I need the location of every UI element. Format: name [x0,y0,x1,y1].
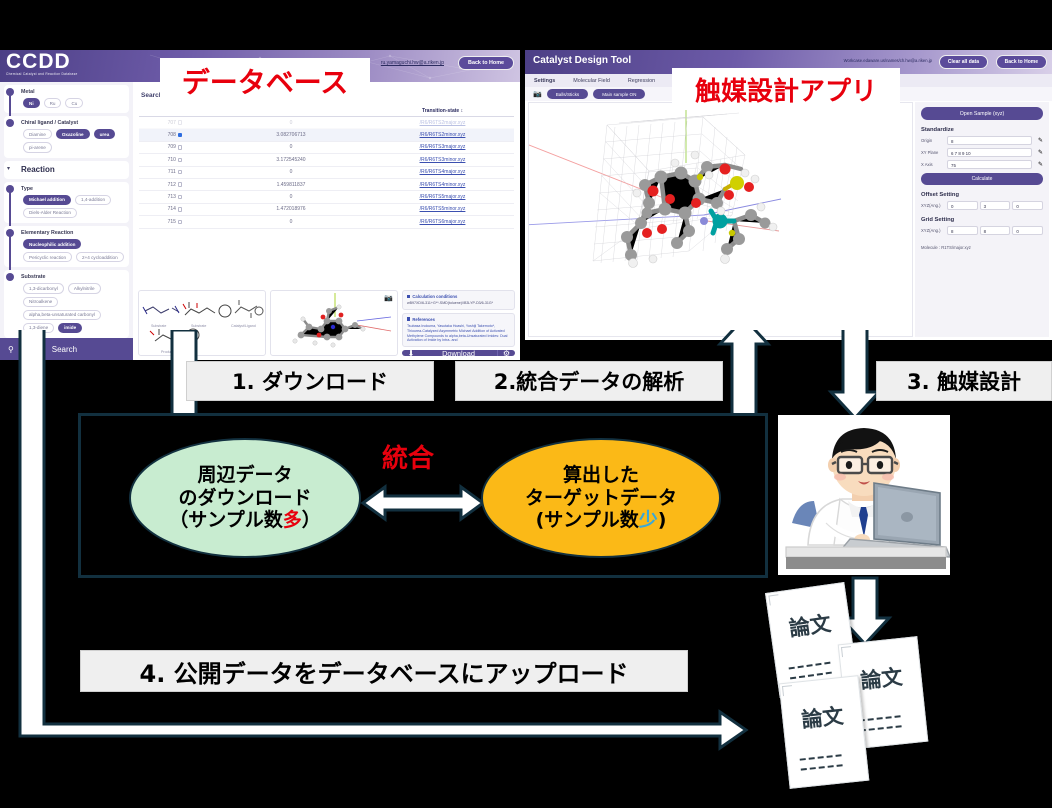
filter-group-type: Type Michael addition 1,4-addition Diels… [4,182,129,223]
page-corner-icon [768,594,779,605]
ccdd-logo-subtitle: Chemical Catalyst and Reaction Database [6,72,78,76]
row-index: 708 [139,132,211,138]
row-value: 0 [211,144,371,150]
step-label-4: 4. 公開データをデータベースにアップロード [80,650,688,692]
row-transition-state-link[interactable]: /R6/R6TS4minor.xyz [371,182,514,188]
molecule-note: Molecule : R1TS/major.xyz [921,245,1043,250]
filter-group-substrate: Substrate 1,3-dicarbonyl Alkylnitrile Ni… [4,270,129,338]
chevron-down-icon: ▾ [7,165,10,172]
xy-plane-label: XY Plane [921,150,947,155]
yellow-node-line2: ターゲットデータ [525,487,677,509]
calculation-conditions-body: wB97XD/6-311+G**-SMD(toluene)//B3LYP-D3/… [407,301,510,306]
step-label-2: 2.統合データの解析 [455,361,723,401]
filter-chip-oxazoline[interactable]: Oxazoline [56,129,90,139]
filter-chip-unsaturated-carbonyl[interactable]: alpha,beta-unsaturated carbonyl [23,310,101,320]
node-peripheral-data: 周辺データ のダウンロード （サンプル数多） [129,438,361,558]
filter-chip-24-cycloaddition[interactable]: 2+4 cycloaddition [76,252,124,262]
offset-setting-row: XYZ(Ang.) 0 3 0 [921,201,1043,210]
catalyst-back-to-home-button[interactable]: Back to Home [996,55,1047,69]
page-corner-icon [841,646,852,657]
unify-label: 統合 [343,438,473,475]
caption-database: データベース [160,58,370,103]
filter-group-title: Type [21,186,124,192]
yellow-node-emphasis: 少 [639,509,658,531]
row-transition-state-link[interactable]: /R6/R6TS3minor.xyz [371,157,514,163]
filter-section-reaction[interactable]: ▾ Reaction [4,161,129,179]
results-table: Transition-state ↕ 707 0 /R6/R6TS2major.… [139,108,514,229]
row-checkbox[interactable] [178,133,182,137]
row-index: 715 [139,219,211,225]
grid-y-input[interactable]: 8 [980,226,1011,235]
offset-y-input[interactable]: 3 [980,201,1011,210]
filter-group-chiral-ligand: Chiral ligand / Catalyst Diamine Oxazoli… [4,116,129,157]
filter-chip-urea[interactable]: urea [94,129,116,139]
ccdd-logo-text: CCDD [6,52,78,72]
row-transition-state-link[interactable]: /R6/R6TS6major.xyz [371,219,514,225]
filter-chip-pericyclic[interactable]: Pericyclic reaction [23,252,72,262]
molecule-grid-render [529,103,913,337]
row-index: 711 [139,169,211,175]
row-index: 710 [139,157,211,163]
row-transition-state-link[interactable]: /R6/R6TS5major.xyz [371,194,514,200]
filter-group-title: Chiral ligand / Catalyst [21,120,124,126]
offset-z-input[interactable]: 0 [1012,201,1043,210]
main-sample-toggle-button[interactable]: Main sample ON [593,89,645,99]
references-heading: References [407,317,510,322]
section-marker-icon [407,317,410,320]
camera-icon[interactable]: 📷 [533,90,542,98]
green-node-line3: （サンプル数多） [169,509,320,531]
row-checkbox[interactable] [178,120,182,124]
filter-chip-ru[interactable]: Ru [44,98,62,108]
grid-setting-heading: Grid Setting [921,217,1043,223]
grid-xyz-label: XYZ(Ang.) [921,228,945,233]
database-back-to-home-button[interactable]: Back to Home [458,56,514,70]
paper-line [860,725,902,731]
grid-setting-row: XYZ(Ang.) 8 8 0 [921,226,1043,235]
yellow-node-line1: 算出した [563,464,639,486]
yellow-node-line3-pre: (サンプル数 [536,509,639,531]
paper-card: 論文 [779,675,870,789]
pencil-icon[interactable]: ✎ [1032,149,1043,156]
svg-text:Catalyst/Ligand: Catalyst/Ligand [231,324,256,328]
standardize-heading: Standardize [921,127,1043,133]
x-axis-field-row: X Axis 75 ✎ [921,160,1043,169]
paper-line [801,764,843,770]
paper-line [859,715,901,721]
ccdd-logo[interactable]: CCDD Chemical Catalyst and Reaction Data… [6,52,78,76]
page-corner-icon [782,685,793,696]
filter-chip-alkylnitrile[interactable]: Alkylnitrile [68,283,101,293]
row-value: 1.472018976 [211,206,371,212]
bullet-icon [6,119,14,127]
row-checkbox[interactable] [178,207,182,211]
col-header-index [139,108,211,114]
filter-chip-cu[interactable]: Cu [65,98,83,108]
offset-xyz-label: XYZ(Ang.) [921,203,945,208]
section-marker-icon [407,295,410,298]
origin-field-row: Origin 8 ✎ [921,136,1043,145]
chip-list: Michael addition 1,4-addition Diels-Alde… [23,195,124,218]
chip-list: Nucleophilic addition Pericyclic reactio… [23,239,124,262]
filter-chip-14-addition[interactable]: 1,4-addition [75,195,111,205]
row-value: 0 [211,219,371,225]
researcher-at-laptop-icon [778,415,950,575]
table-row[interactable]: 709 0 /R6/R6TS3major.xyz [139,142,514,154]
paper-title: 論文 [787,607,833,643]
filter-chip-diamine[interactable]: Diamine [23,129,52,139]
camera-icon[interactable]: 📷 [384,294,393,302]
filter-group-elementary-reaction: Elementary Reaction Nucleophilic additio… [4,226,129,267]
offset-setting-heading: Offset Setting [921,192,1043,198]
researcher-illustration [778,415,950,575]
row-value: 1.459811837 [211,182,371,188]
xy-plane-field-row: XY Plane 6 7 8 9 10 ✎ [921,148,1043,157]
open-sample-button[interactable]: Open Sample (xyz) [921,107,1043,120]
table-row[interactable]: 715 0 /R6/R6TS6major.xyz [139,216,514,228]
catalyst-settings-panel: Open Sample (xyz) Standardize Origin 8 ✎… [915,102,1049,337]
table-row[interactable]: 712 1.459811837 /R6/R6TS4minor.xyz [139,179,514,191]
row-checkbox[interactable] [178,182,182,186]
row-value: 3.172545240 [211,157,371,163]
filter-chip-ni[interactable]: Ni [23,98,40,108]
integrated-data-box: 周辺データ のダウンロード （サンプル数多） 統合 算出した ターゲットデータ … [78,413,768,578]
row-index: 709 [139,144,211,150]
grid-x-input[interactable]: 8 [947,226,978,235]
filter-chip-13-dicarbonyl[interactable]: 1,3-dicarbonyl [23,283,64,293]
x-axis-label: X Axis [921,162,947,167]
green-node-line3-post: ） [302,509,321,531]
grid-z-input[interactable]: 0 [1012,226,1043,235]
bidirectional-arrow [359,482,487,524]
table-row[interactable]: 710 3.172545240 /R6/R6TS3minor.xyz [139,154,514,166]
col-header-transition-state[interactable]: Transition-state ↕ [371,108,514,114]
table-row[interactable]: 713 0 /R6/R6TS5major.xyz [139,191,514,203]
row-index: 712 [139,182,211,188]
catalyst-app-title: Catalyst Design Tool [533,55,631,66]
row-checkbox[interactable] [178,195,182,199]
arrow-analysis-up [720,330,768,418]
table-header-row: Transition-state ↕ [139,108,514,117]
clear-all-data-button[interactable]: Clear all data [939,55,988,69]
filter-chip-nitroalkene[interactable]: Nitroalkene [23,297,58,307]
row-checkbox[interactable] [178,145,182,149]
table-row[interactable]: 707 0 /R6/R6TS2major.xyz [139,117,514,129]
chip-list: 1,3-dicarbonyl Alkylnitrile Nitroalkene … [23,283,124,333]
table-row[interactable]: 714 1.472018976 /R6/R6TS5minor.xyz [139,204,514,216]
database-main-area: Search Transition-state ↕ 707 0 /R6/R6TS… [133,82,520,360]
paper-line [800,754,842,760]
chip-list: Diamine Oxazoline urea pi-arene [23,129,124,152]
col-header-value [211,108,371,114]
filter-chip-nucleophilic-addition[interactable]: Nucleophilic addition [23,239,81,249]
green-node-line1: 周辺データ [197,464,292,486]
database-filter-sidebar: Metal Ni Ru Cu Chiral ligand / Catalyst … [0,82,133,360]
calculation-conditions-heading: Calculation conditions [407,294,510,299]
row-value: 0 [211,194,371,200]
calculate-button[interactable]: Calculate [921,173,1043,185]
row-checkbox[interactable] [178,220,182,224]
tab-regression[interactable]: Regression [619,78,664,84]
filter-group-metal: Metal Ni Ru Cu [4,85,129,113]
balls-sticks-button[interactable]: Balls/Sticks [547,89,589,99]
origin-label: Origin [921,138,947,143]
x-axis-input[interactable]: 75 [947,160,1032,169]
step-label-1: 1. ダウンロード [186,361,434,401]
row-checkbox[interactable] [178,170,182,174]
filter-chip-pi-arene[interactable]: pi-arene [23,142,52,152]
sort-arrows-icon[interactable]: ↕ [461,108,464,114]
tab-molecular-field[interactable]: Molecular Field [564,78,619,84]
bullet-icon [6,273,14,281]
row-value: 3.082706713 [211,132,371,138]
caption-catalyst-app: 触媒設計アプリ [672,68,900,110]
paper-title: 論文 [859,661,904,695]
paper-line [789,662,831,670]
row-transition-state-link[interactable]: /R6/R6TS2major.xyz [371,120,514,126]
green-node-line3-pre: （サンプル数 [169,509,282,531]
arrow-catalyst-design-down [831,330,879,418]
catalyst-user-email[interactable]: Workcase.edaware.us/names/ch.hw@a.riken.… [844,58,932,63]
row-value: 0 [211,169,371,175]
chip-list: Ni Ru Cu [23,98,124,108]
filter-group-title: Metal [21,89,124,95]
table-row[interactable]: 708 3.082706713 /R6/R6TS2minor.xyz [139,129,514,141]
green-node-emphasis: 多 [283,509,302,531]
row-index: 714 [139,206,211,212]
svg-text:Substrate: Substrate [151,324,166,328]
row-transition-state-link[interactable]: /R6/R6TS3major.xyz [371,144,514,150]
row-transition-state-link[interactable]: /R6/R6TS4major.xyz [371,169,514,175]
origin-input[interactable]: 8 [947,136,1032,145]
pencil-icon[interactable]: ✎ [1032,161,1043,168]
calculation-conditions-card: Calculation conditions wB97XD/6-311+G**-… [402,290,515,310]
paper-title: 論文 [800,700,845,734]
molecular-3d-viewport[interactable] [528,102,913,337]
database-user-email[interactable]: ru.yamaguchi.hw@a.riken.jp [381,60,444,66]
row-index: 707 [139,120,211,126]
timeline-line [9,192,11,229]
step-label-3: 3. 触媒設計 [876,361,1052,401]
green-node-line2: のダウンロード [178,487,311,509]
row-index: 713 [139,194,211,200]
yellow-node-line3-post: ) [658,509,667,531]
filter-chip-diels-alder[interactable]: Diels-Alder Reaction [23,208,77,218]
svg-text:Substrate: Substrate [191,324,206,328]
filter-section-title: Reaction [21,165,124,174]
pencil-icon[interactable]: ✎ [1032,137,1043,144]
row-value: 0 [211,120,371,126]
filter-group-title: Elementary Reaction [21,230,124,236]
node-target-data: 算出した ターゲットデータ (サンプル数少) [481,438,721,558]
row-transition-state-link[interactable]: /R6/R6TS2minor.xyz [371,132,514,138]
offset-x-input[interactable]: 0 [947,201,978,210]
yellow-node-line3: (サンプル数少) [536,509,667,531]
tab-settings[interactable]: Settings [525,78,564,84]
row-checkbox[interactable] [178,158,182,162]
xy-plane-input[interactable]: 6 7 8 9 10 [947,148,1032,157]
row-transition-state-link[interactable]: /R6/R6TS5minor.xyz [371,206,514,212]
filter-chip-michael-addition[interactable]: Michael addition [23,195,71,205]
filter-group-title: Substrate [21,274,124,280]
timeline-line [9,236,11,273]
table-row[interactable]: 711 0 /R6/R6TS4major.xyz [139,167,514,179]
